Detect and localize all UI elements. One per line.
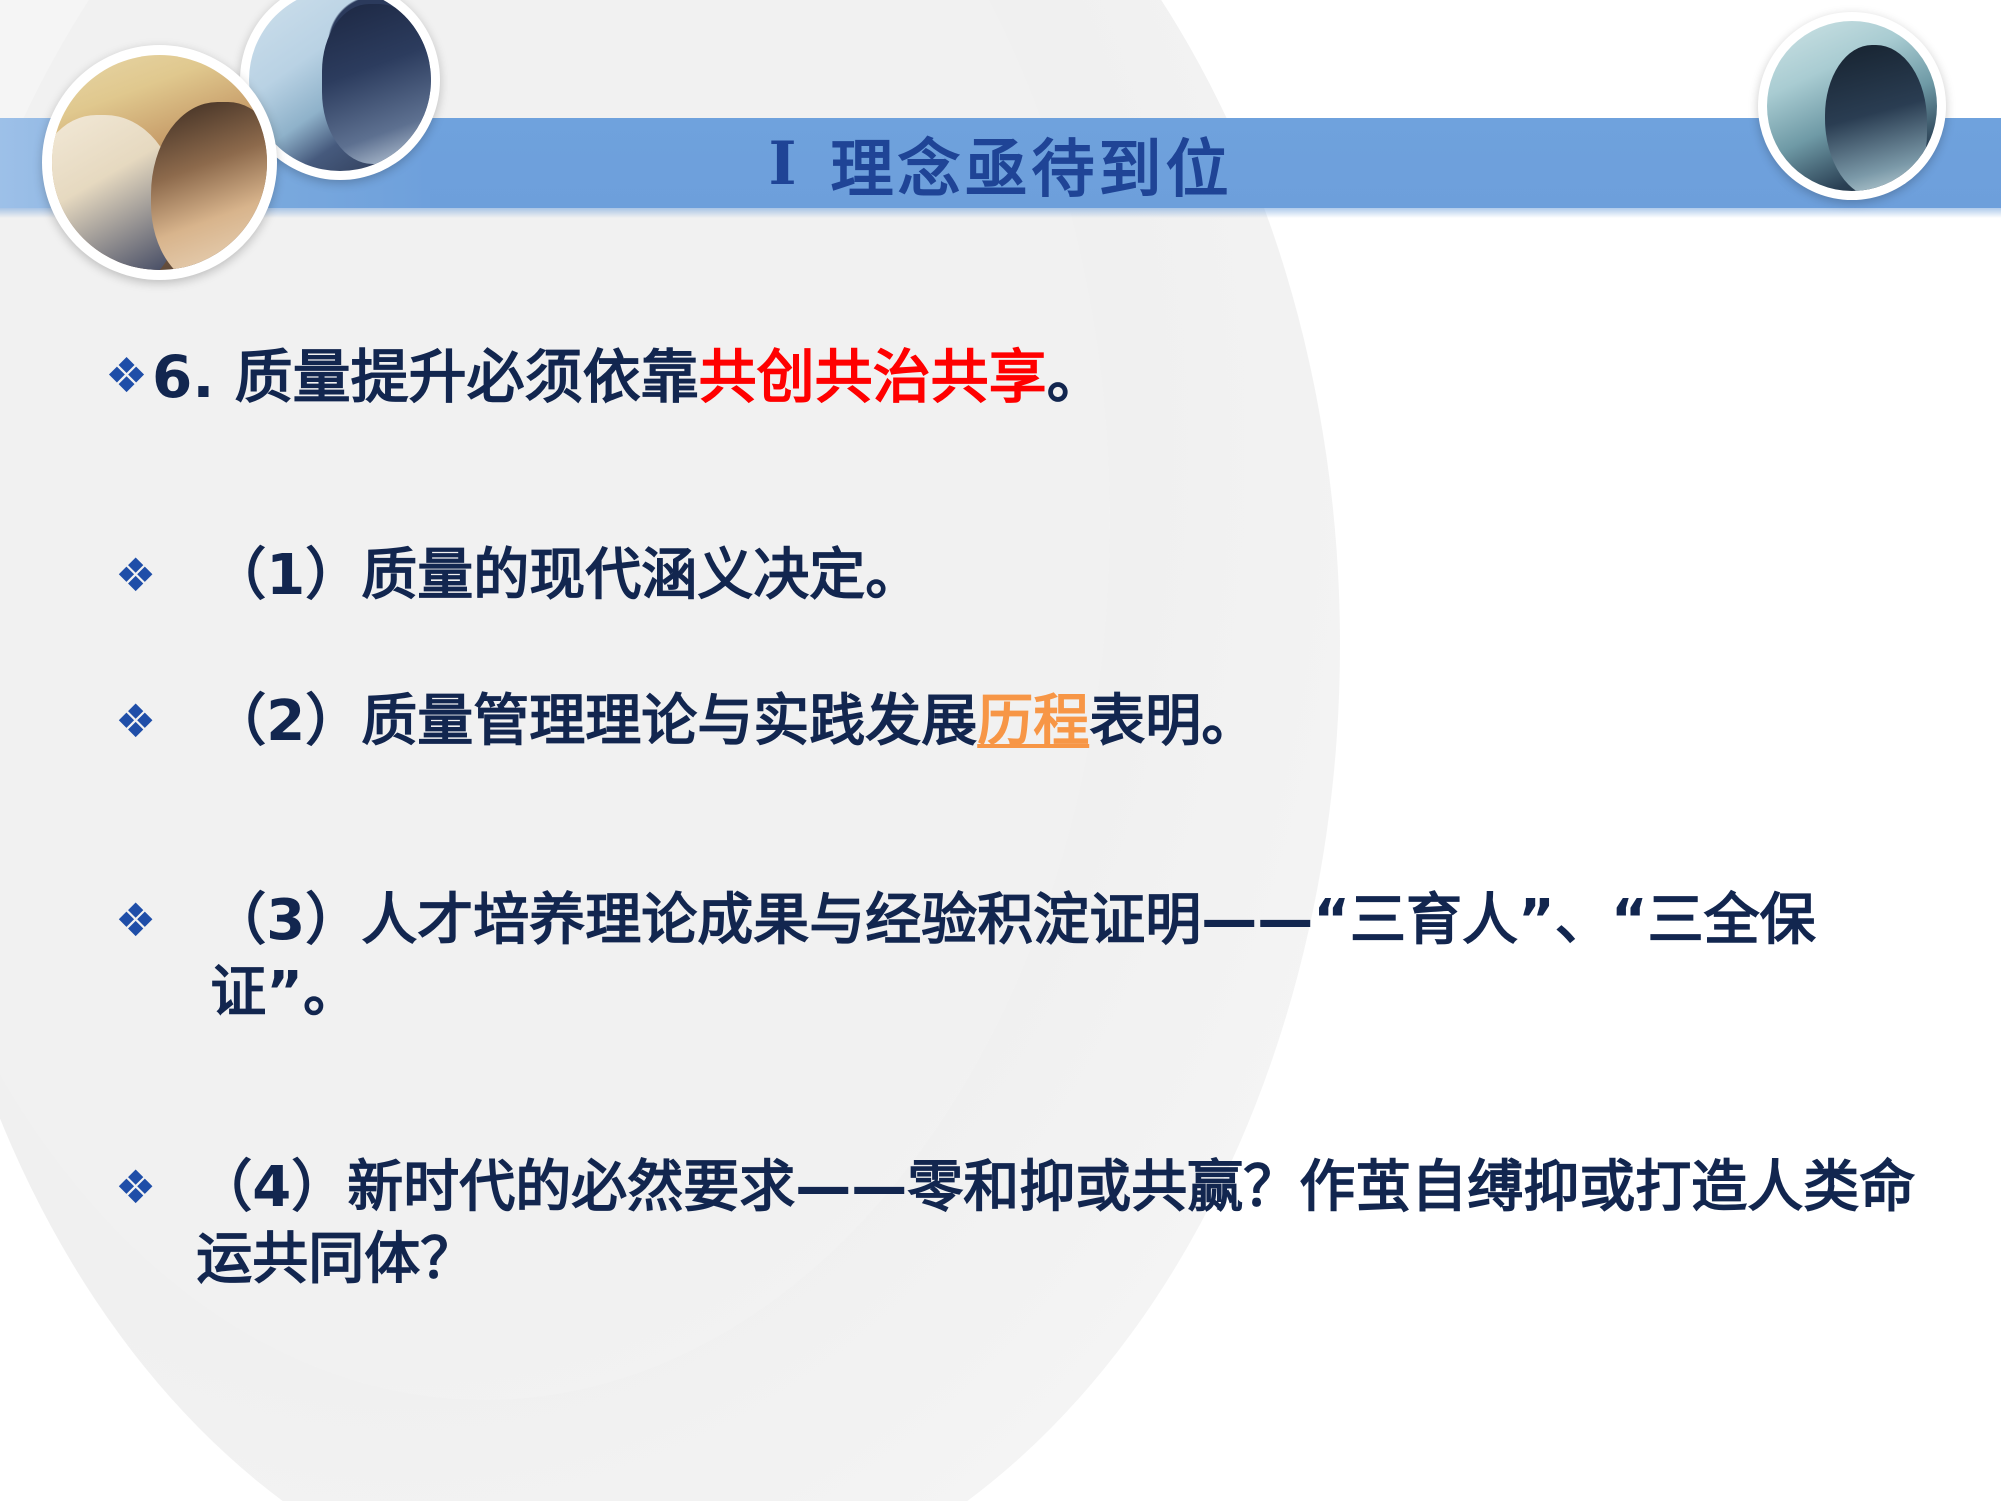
diamond-bullet-icon: ❖ xyxy=(115,544,156,606)
bullet-item-3: ❖ （3）人才培养理论成果与经验积淀证明——“三育人”、“三全保证”。 xyxy=(115,885,1925,1028)
bullet-item-4-text: （4）新时代的必然要求——零和抑或共赢？作茧自缚抑或打造人类命运共同体？ xyxy=(196,1152,1925,1295)
diamond-bullet-icon: ❖ xyxy=(115,889,156,951)
slide-canvas: Ⅰ 理念亟待到位 ❖ 6. 质量提升必须依靠共创共治共享。 ❖ （1）质量的现代… xyxy=(0,0,2001,1501)
diamond-bullet-icon: ❖ xyxy=(115,1156,156,1218)
diamond-bullet-icon: ❖ xyxy=(105,344,148,409)
bullet-6-tail: 。 xyxy=(1047,343,1105,411)
bullet-6-lead: 6. 质量提升必须依靠 xyxy=(152,343,699,411)
bullet-2-tail: 表明。 xyxy=(1089,689,1257,754)
bullet-item-2-text: （2）质量管理理论与实践发展历程表明。 xyxy=(210,686,1515,758)
bullet-item-6-text: 6. 质量提升必须依靠共创共治共享。 xyxy=(152,340,1405,414)
bullet-item-1-text: （1）质量的现代涵义决定。 xyxy=(210,540,1415,612)
bullet-item-4: ❖ （4）新时代的必然要求——零和抑或共赢？作茧自缚抑或打造人类命运共同体？ xyxy=(115,1152,1925,1295)
diamond-bullet-icon: ❖ xyxy=(115,690,156,752)
bullet-item-3-text: （3）人才培养理论成果与经验积淀证明——“三育人”、“三全保证”。 xyxy=(210,885,1925,1028)
bullet-item-1: ❖ （1）质量的现代涵义决定。 xyxy=(115,540,1415,612)
bullet-2-lead: （2）质量管理理论与实践发展 xyxy=(210,689,977,754)
bullet-6-highlight: 共创共治共享 xyxy=(699,343,1047,411)
bullet-list: ❖ 6. 质量提升必须依靠共创共治共享。 ❖ （1）质量的现代涵义决定。 ❖ （… xyxy=(0,0,2001,1501)
bullet-item-2: ❖ （2）质量管理理论与实践发展历程表明。 xyxy=(115,686,1515,758)
bullet-2-highlight: 历程 xyxy=(977,689,1089,754)
bullet-item-6: ❖ 6. 质量提升必须依靠共创共治共享。 xyxy=(105,340,1405,414)
